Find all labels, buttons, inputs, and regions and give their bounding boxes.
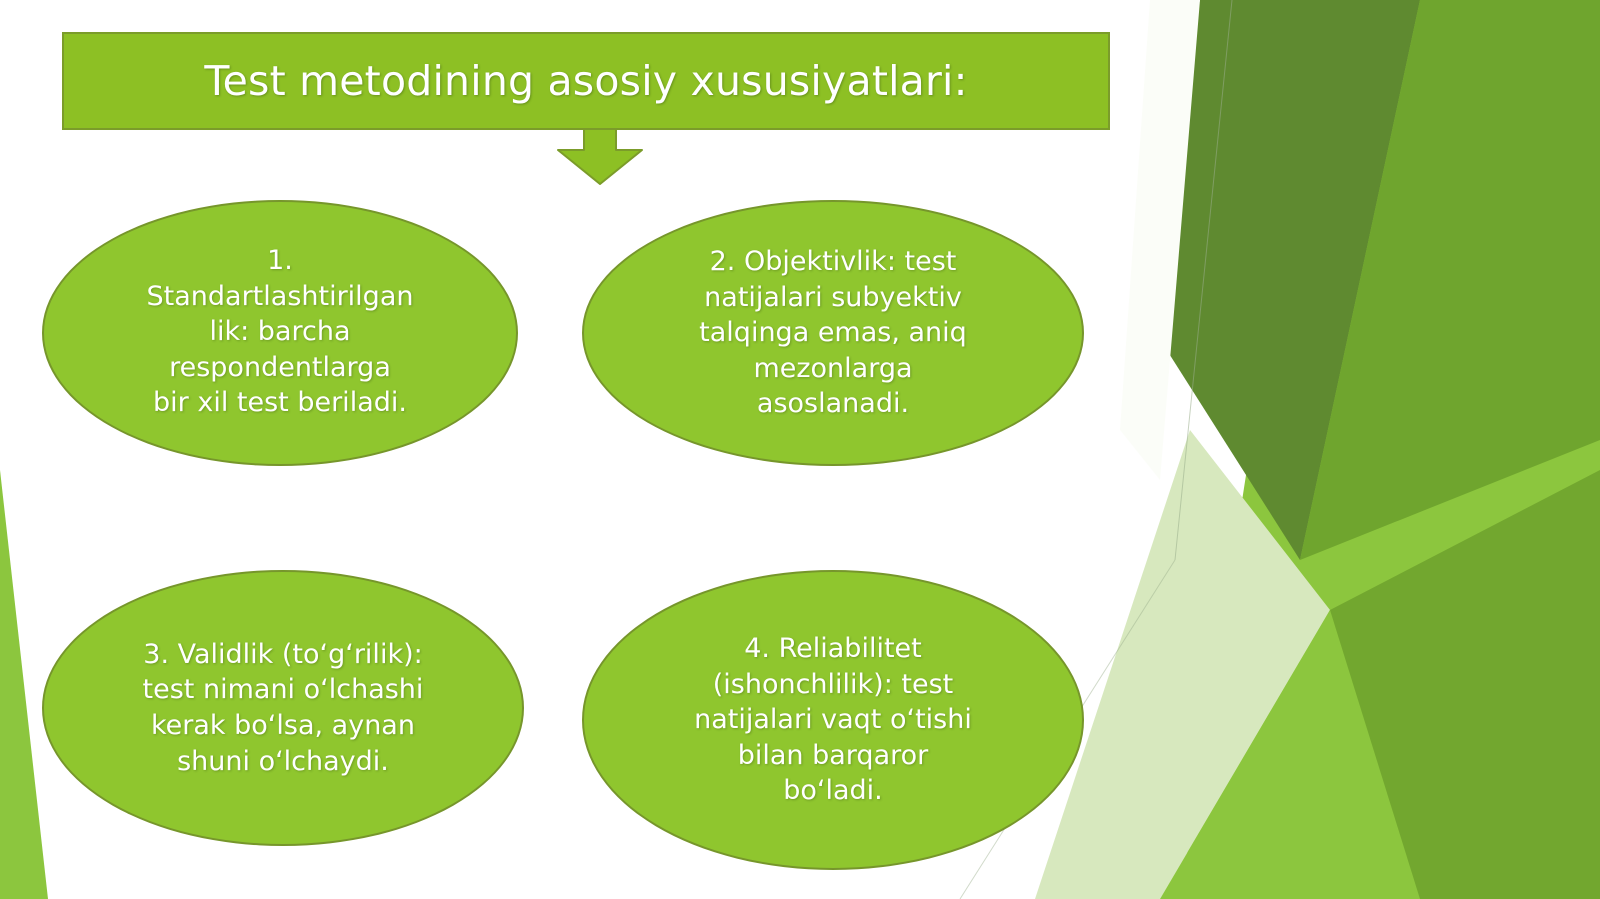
title-banner: Test metodining asosiy xususiyatlari:: [62, 32, 1110, 130]
decor-dark-olive-wedge: [1135, 0, 1420, 560]
decor-bottom-left-wedge: [0, 470, 48, 899]
feature-ellipse-standartlashtirilganlik: 1. Standartlashtirilgan lik: barcha resp…: [42, 200, 518, 466]
page-title: Test metodining asosiy xususiyatlari:: [204, 57, 967, 105]
feature-text: 2. Objektivlik: test natijalari subyekti…: [699, 244, 967, 422]
feature-text: 4. Reliabilitet (ishonchlilik): test nat…: [694, 631, 972, 809]
decor-hairline-upper: [1175, 0, 1232, 560]
slide-canvas: Test metodining asosiy xususiyatlari: 1.…: [0, 0, 1600, 899]
feature-ellipse-reliabilitet: 4. Reliabilitet (ishonchlilik): test nat…: [582, 570, 1084, 870]
feature-ellipse-objektivlik: 2. Objektivlik: test natijalari subyekti…: [582, 200, 1084, 466]
decor-mid-green-diagonal: [1300, 0, 1600, 560]
decor-bottom-bright-overlay: [1160, 610, 1420, 899]
feature-ellipse-validlik: 3. Validlik (to‘g‘rilik): test nimani o‘…: [42, 570, 524, 846]
decor-white-triangle: [1120, 0, 1200, 480]
arrow-down-icon: [556, 126, 644, 186]
decor-right-bright-band: [1180, 0, 1600, 899]
feature-text: 3. Validlik (to‘g‘rilik): test nimani o‘…: [143, 637, 424, 780]
decor-pale-sliver: [1035, 430, 1330, 899]
feature-text: 1. Standartlashtirilgan lik: barcha resp…: [147, 243, 414, 423]
decor-bottom-mid-green: [1180, 470, 1600, 899]
